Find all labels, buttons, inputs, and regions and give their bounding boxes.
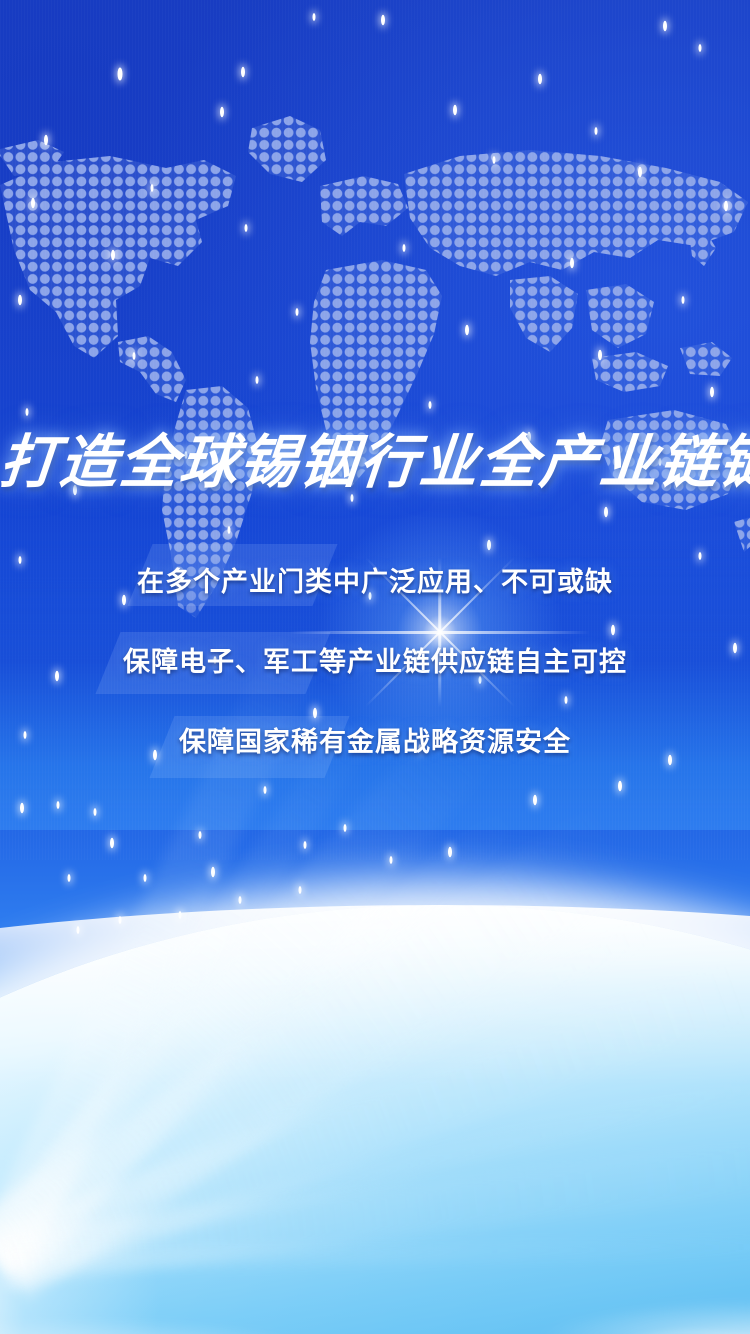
poster-canvas: 打造全球锡铟行业全产业链链主 在多个产业门类中广泛应用、不可或缺 保障电子、军工… (0, 0, 750, 1334)
subtitle-line-2: 保障电子、军工等产业链供应链自主可控 (0, 640, 750, 679)
subtitle-line-1: 在多个产业门类中广泛应用、不可或缺 (0, 560, 750, 599)
subtitle-line-3: 保障国家稀有金属战略资源安全 (0, 720, 750, 759)
text-content: 打造全球锡铟行业全产业链链主 在多个产业门类中广泛应用、不可或缺 保障电子、军工… (0, 0, 750, 1334)
poster-title: 打造全球锡铟行业全产业链链主 (0, 415, 750, 499)
